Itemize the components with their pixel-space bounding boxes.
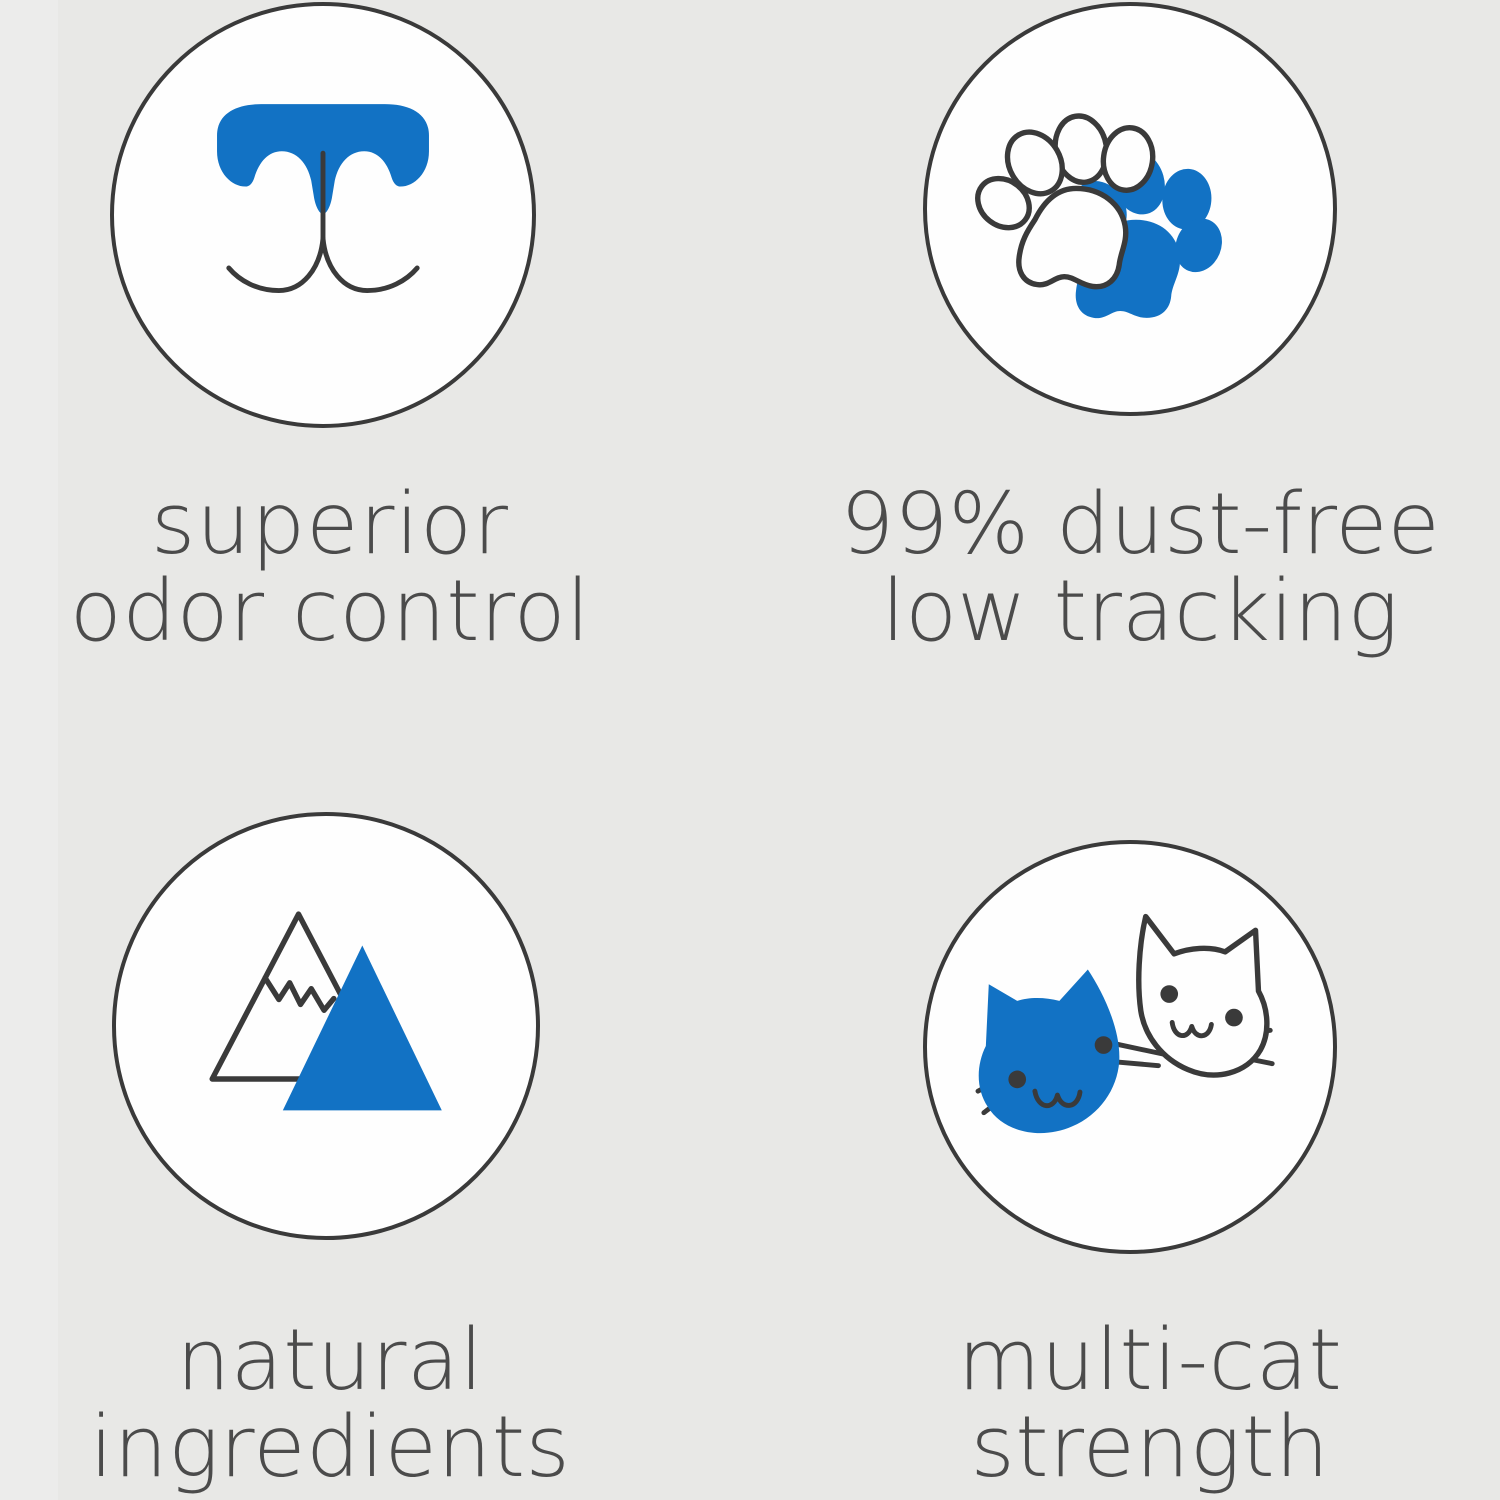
feature-badge-multi-cat-strength[interactable] [923, 840, 1337, 1254]
caption-line: superior [0, 482, 660, 569]
caption-odor-control: superior odor control [0, 482, 660, 655]
caption-line: odor control [0, 569, 660, 656]
feature-badge-natural-ingredients[interactable] [112, 812, 540, 1240]
feature-badge-dust-free[interactable] [923, 2, 1337, 416]
feature-badge-grid: superior odor control [0, 0, 1500, 1500]
two-cat-faces-icon [927, 840, 1333, 1254]
caption-multi-cat-strength: multi-cat strength [820, 1318, 1480, 1491]
feature-badge-odor-control[interactable] [110, 2, 536, 428]
caption-line: 99% dust-free [790, 482, 1490, 569]
mountains-icon [116, 812, 536, 1240]
caption-dust-free: 99% dust-free low tracking [790, 482, 1490, 655]
caption-line: natural [0, 1318, 660, 1405]
left-edge-strip [0, 0, 58, 1500]
caption-line: low tracking [790, 569, 1490, 656]
caption-line: strength [820, 1405, 1480, 1492]
caption-line: ingredients [0, 1405, 660, 1492]
caption-natural-ingredients: natural ingredients [0, 1318, 660, 1491]
dog-nose-snout-icon [114, 2, 532, 428]
caption-line: multi-cat [820, 1318, 1480, 1405]
double-paw-print-icon [927, 2, 1333, 416]
cat-face-blue [978, 970, 1162, 1134]
